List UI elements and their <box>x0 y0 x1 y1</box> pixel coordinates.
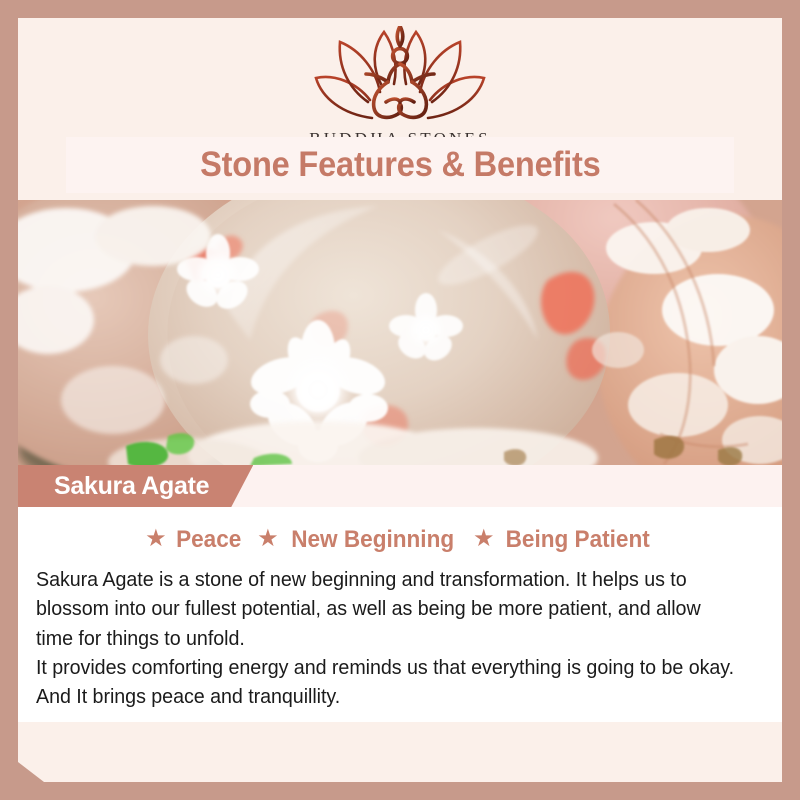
title-banner: Stone Features & Benefits <box>66 137 734 193</box>
footer-strip <box>18 722 782 782</box>
product-photo <box>18 200 782 465</box>
lotus-meditation-icon <box>18 26 782 127</box>
benefits-row: ★ Peace ★ New Beginning ★ Being Patient <box>18 507 782 554</box>
header-section: BUDDHA STONES Stone Features & Benefits <box>18 18 782 200</box>
benefit-label: Being Patient <box>506 526 650 554</box>
content-section: ★ Peace ★ New Beginning ★ Being Patient … <box>18 507 782 722</box>
star-icon: ★ <box>473 527 495 551</box>
description-block: Sakura Agate is a stone of new beginning… <box>18 554 782 712</box>
description-paragraph-2: It provides comforting energy and remind… <box>36 653 735 712</box>
benefit-item-new-beginning: ★ New Beginning <box>257 526 459 554</box>
star-icon: ★ <box>145 527 167 551</box>
stone-name-label: Sakura Agate <box>54 472 209 501</box>
stone-name-tag: Sakura Agate <box>18 465 253 507</box>
star-icon: ★ <box>257 527 279 551</box>
benefit-item-being-patient: ★ Being Patient <box>473 526 655 554</box>
benefit-item-peace: ★ Peace <box>145 526 243 554</box>
poster-card: BUDDHA STONES Stone Features & Benefits <box>18 18 782 782</box>
benefit-label: New Beginning <box>291 526 454 554</box>
benefit-label: Peace <box>176 526 241 554</box>
page-title: Stone Features & Benefits <box>200 145 601 185</box>
description-paragraph-1: Sakura Agate is a stone of new beginning… <box>36 565 735 653</box>
brand-logo-block: BUDDHA STONES <box>18 26 782 149</box>
